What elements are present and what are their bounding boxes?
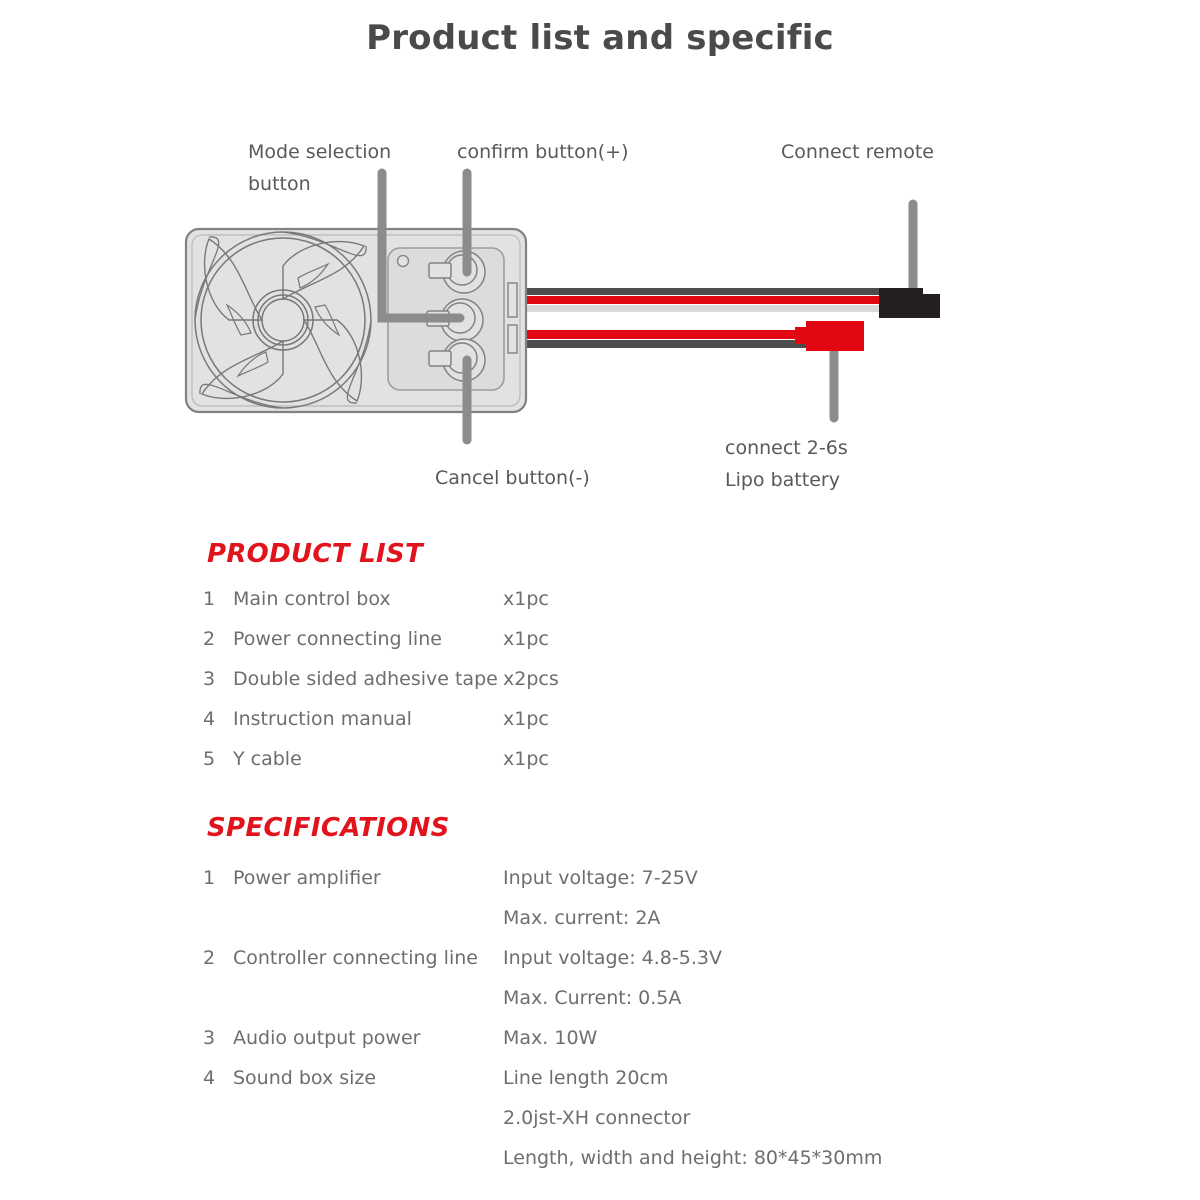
row-quantity: x1pc <box>503 588 549 610</box>
spec-extra-connector-type: 2.0jst-XH connector <box>503 1107 690 1129</box>
product-list-row: 1 Main control box x1pc <box>203 588 1103 628</box>
row-quantity: x1pc <box>503 748 549 770</box>
status-led <box>398 256 409 267</box>
battery-power-cable <box>512 330 822 348</box>
row-index: 1 <box>203 588 225 610</box>
row-value: Max. 10W <box>503 1027 597 1049</box>
specification-row: 4 Sound box size Line length 20cm <box>203 1067 1103 1107</box>
row-value: Line length 20cm <box>503 1067 668 1089</box>
row-label: Sound box size <box>233 1067 376 1089</box>
product-list-row: 5 Y cable x1pc <box>203 748 1103 788</box>
row-label: Y cable <box>233 748 302 770</box>
product-diagram <box>0 0 1200 520</box>
row-index: 4 <box>203 708 225 730</box>
remote-connector <box>879 288 940 318</box>
callout-cancel-button: Cancel button(-) <box>435 462 590 494</box>
row-label: Audio output power <box>233 1027 420 1049</box>
remote-signal-cable <box>512 288 902 312</box>
row-index: 4 <box>203 1067 225 1089</box>
row-label: Instruction manual <box>233 708 412 730</box>
callout-mode-selection: Mode selection button <box>248 136 391 200</box>
row-label: Power connecting line <box>233 628 442 650</box>
spec-extra-amp-max-current: Max. current: 2A <box>503 907 660 929</box>
row-label: Double sided adhesive tape <box>233 668 498 690</box>
callout-connect-remote: Connect remote <box>781 136 934 168</box>
specification-row: 3 Audio output power Max. 10W <box>203 1027 1103 1067</box>
row-index: 3 <box>203 1027 225 1049</box>
product-list-row: 3 Double sided adhesive tape x2pcs <box>203 668 1103 708</box>
row-quantity: x1pc <box>503 628 549 650</box>
product-list-row: 2 Power connecting line x1pc <box>203 628 1103 668</box>
specification-row: 2 Controller connecting line Input volta… <box>203 947 1103 987</box>
callout-confirm-button: confirm button(+) <box>457 136 629 168</box>
spec-extra-dimensions: Length, width and height: 80*45*30mm <box>503 1147 882 1169</box>
callout-lipo-battery: connect 2-6s Lipo battery <box>725 432 848 496</box>
row-quantity: x2pcs <box>503 668 559 690</box>
row-index: 5 <box>203 748 225 770</box>
row-label: Power amplifier <box>233 867 381 889</box>
product-list-row: 4 Instruction manual x1pc <box>203 708 1103 748</box>
row-value: Input voltage: 7-25V <box>503 867 698 889</box>
specification-row: 1 Power amplifier Input voltage: 7-25V <box>203 867 1103 907</box>
specifications-heading: SPECIFICATIONS <box>207 813 450 843</box>
row-label: Main control box <box>233 588 391 610</box>
row-index: 1 <box>203 867 225 889</box>
row-label: Controller connecting line <box>233 947 478 969</box>
row-index: 2 <box>203 628 225 650</box>
product-list-heading: PRODUCT LIST <box>207 539 423 569</box>
row-index: 3 <box>203 668 225 690</box>
row-index: 2 <box>203 947 225 969</box>
spec-extra-controller-max-current: Max. Current: 0.5A <box>503 987 681 1009</box>
row-value: Input voltage: 4.8-5.3V <box>503 947 722 969</box>
row-quantity: x1pc <box>503 708 549 730</box>
